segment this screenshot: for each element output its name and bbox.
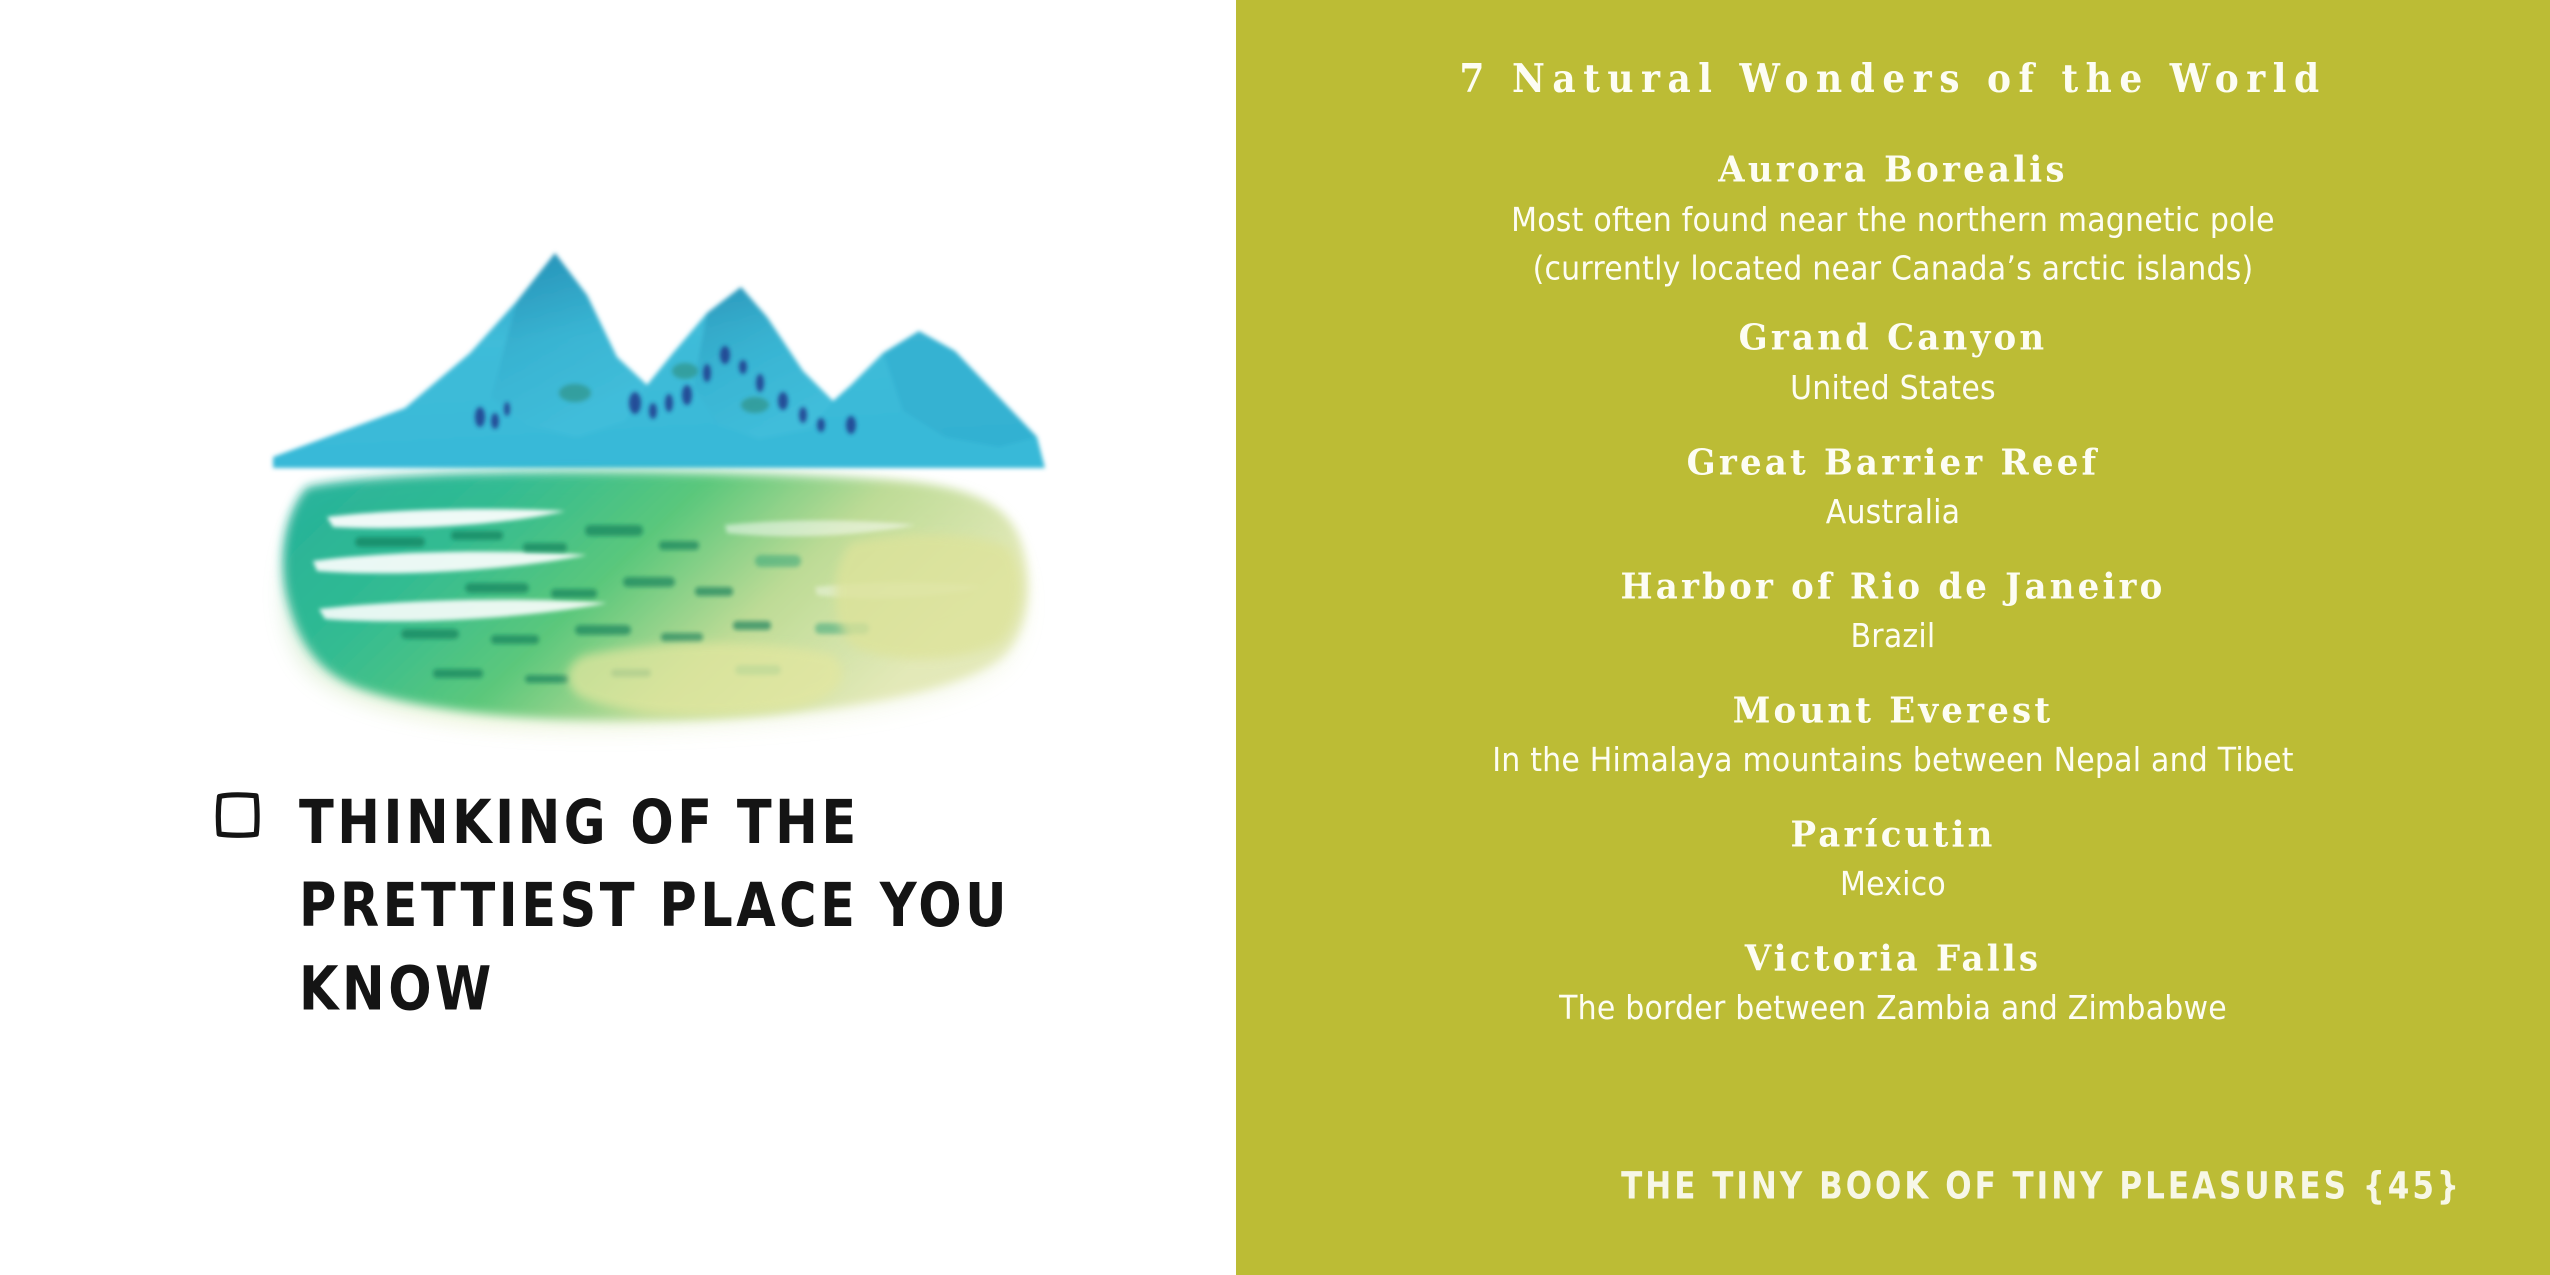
wonders-list: Aurora Borealis Most often found near th… bbox=[1236, 145, 2550, 1058]
wonder-description: Brazil bbox=[1236, 613, 2550, 662]
list-item: Harbor of Rio de Janeiro Brazil bbox=[1236, 562, 2550, 658]
wonder-name: Parícutin bbox=[1236, 809, 2550, 863]
book-spread: Thinking of the prettiest place you know… bbox=[0, 0, 2550, 1275]
wonder-description: United States bbox=[1236, 365, 2550, 414]
list-item: Parícutin Mexico bbox=[1236, 810, 2550, 906]
wonder-name: Victoria Falls bbox=[1236, 933, 2550, 987]
left-page: Thinking of the prettiest place you know bbox=[0, 0, 1236, 1275]
wonder-name: Mount Everest bbox=[1236, 685, 2550, 739]
prompt-text: Thinking of the prettiest place you know bbox=[299, 783, 1159, 1032]
right-page: 7 Natural Wonders of the World Aurora Bo… bbox=[1236, 0, 2550, 1275]
page-title: 7 Natural Wonders of the World bbox=[1236, 56, 2550, 101]
empty-checkbox-icon[interactable] bbox=[215, 791, 261, 839]
wonder-description: In the Himalaya mountains between Nepal … bbox=[1236, 737, 2550, 786]
checklist-prompt: Thinking of the prettiest place you know bbox=[215, 783, 1195, 994]
list-item: Aurora Borealis Most often found near th… bbox=[1236, 145, 2550, 285]
wonder-name: Aurora Borealis bbox=[1236, 144, 2550, 198]
wonder-description: Most often found near the northern magne… bbox=[1236, 197, 2550, 295]
list-item: Grand Canyon United States bbox=[1236, 313, 2550, 409]
wonder-description: The border between Zambia and Zimbabwe bbox=[1236, 985, 2550, 1034]
watercolor-mountain-landscape-illustration bbox=[255, 225, 1055, 755]
list-item: Mount Everest In the Himalaya mountains … bbox=[1236, 686, 2550, 782]
list-item: Great Barrier Reef Australia bbox=[1236, 438, 2550, 534]
list-item: Victoria Falls The border between Zambia… bbox=[1236, 934, 2550, 1030]
wonder-description: Australia bbox=[1236, 489, 2550, 538]
wonder-name: Grand Canyon bbox=[1236, 312, 2550, 366]
wonder-name: Harbor of Rio de Janeiro bbox=[1236, 561, 2550, 615]
wonder-description: Mexico bbox=[1236, 861, 2550, 910]
wonder-name: Great Barrier Reef bbox=[1236, 436, 2550, 490]
book-footer: The Tiny Book of Tiny Pleasures {45} bbox=[1621, 1165, 2462, 1208]
